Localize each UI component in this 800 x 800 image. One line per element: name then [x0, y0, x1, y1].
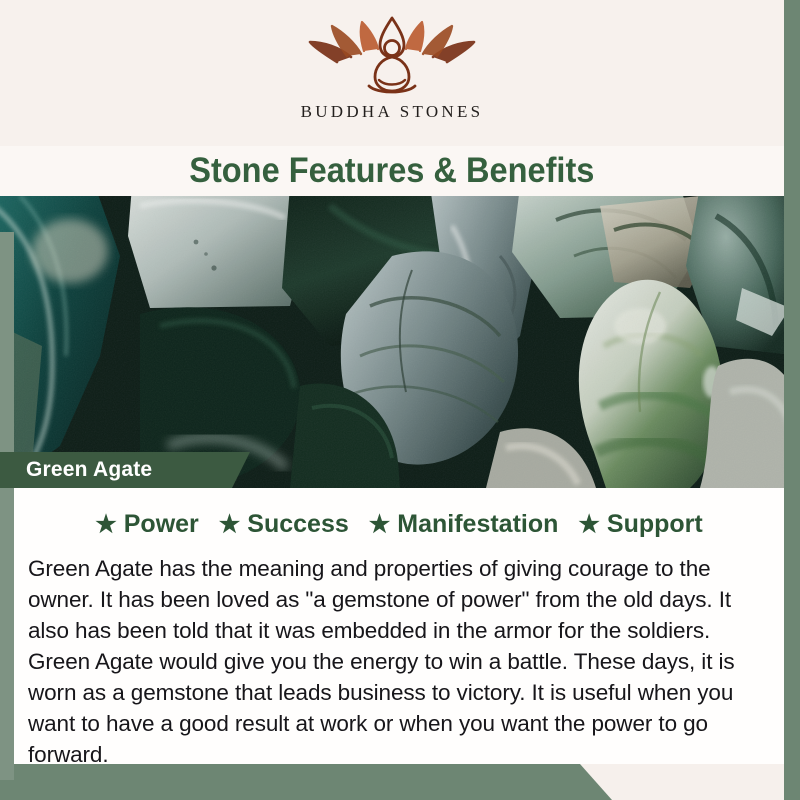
feature-item-power: ★ Power	[95, 510, 199, 539]
star-icon: ★	[369, 513, 391, 537]
content-panel: ★ Power ★ Success ★ Manifestation ★ Supp…	[14, 488, 784, 764]
header: BUDDHA STONES Stone Features & Benefits	[0, 0, 784, 196]
feature-label: Success	[247, 510, 348, 539]
title-band: Stone Features & Benefits	[0, 146, 784, 196]
star-icon: ★	[578, 513, 600, 537]
feature-label: Power	[124, 510, 199, 539]
star-icon: ★	[95, 513, 117, 537]
brand-logo: BUDDHA STONES	[301, 16, 484, 122]
stone-name-label: Green Agate	[26, 458, 152, 482]
feature-item-support: ★ Support	[578, 510, 702, 539]
page-title: Stone Features & Benefits	[189, 151, 594, 191]
stone-photo-art	[0, 196, 784, 488]
feature-label: Manifestation	[397, 510, 558, 539]
brand-name: BUDDHA STONES	[301, 102, 484, 122]
stone-description: Green Agate has the meaning and properti…	[28, 553, 774, 770]
frame-right-edge	[784, 0, 800, 800]
feature-item-manifestation: ★ Manifestation	[369, 510, 559, 539]
frame-left-edge	[0, 232, 14, 780]
features-row: ★ Power ★ Success ★ Manifestation ★ Supp…	[14, 510, 784, 539]
lotus-meditation-icon	[307, 16, 477, 98]
star-icon: ★	[219, 513, 241, 537]
feature-label: Support	[607, 510, 703, 539]
stone-photo	[0, 196, 784, 488]
feature-item-success: ★ Success	[219, 510, 349, 539]
stone-name-banner: Green Agate	[0, 452, 250, 488]
